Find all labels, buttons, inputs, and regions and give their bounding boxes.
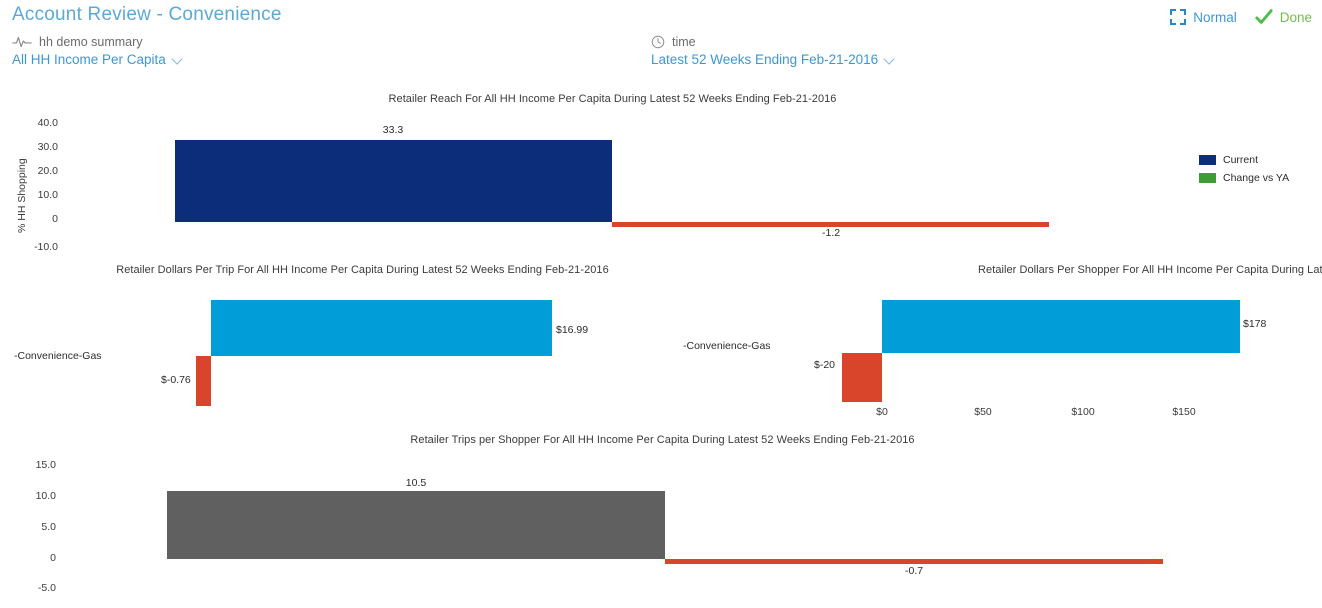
- chart-trips-per-shopper-ytick-3: 0: [8, 552, 56, 564]
- pulse-icon: [12, 35, 32, 49]
- done-button[interactable]: Done: [1255, 8, 1312, 26]
- chart-dollars-per-shopper-xtick-3: $150: [1154, 406, 1214, 418]
- expand-icon: [1170, 9, 1186, 25]
- filter-time-value-text: Latest 52 Weeks Ending Feb-21-2016: [651, 52, 878, 67]
- chevron-down-icon[interactable]: [885, 55, 894, 64]
- legend-swatch-change-vs-ya: [1199, 173, 1216, 183]
- check-icon: [1255, 8, 1273, 26]
- chart-retailer-reach-ytick-0: 40.0: [10, 117, 58, 129]
- header-actions: Normal Done: [1170, 8, 1312, 26]
- legend-item-change-vs-ya[interactable]: Change vs YA: [1199, 170, 1289, 185]
- chevron-down-icon[interactable]: [173, 55, 182, 64]
- chart-trips-per-shopper-ytick-4: -5.0: [8, 582, 56, 594]
- chart-dollars-per-shopper-xtick-1: $50: [953, 406, 1013, 418]
- chart-retailer-reach-ytick-2: 20.0: [10, 165, 58, 177]
- chart-retailer-reach-ytick-5: -10.0: [10, 241, 58, 253]
- chart-dollars-per-shopper-xtick-2: $100: [1053, 406, 1113, 418]
- chart-retailer-reach-title: Retailer Reach For All HH Income Per Cap…: [0, 93, 1225, 105]
- filter-hh-demo-summary-label: hh demo summary: [39, 35, 143, 49]
- filter-time-label: time: [672, 35, 696, 49]
- legend-label-current: Current: [1223, 154, 1258, 166]
- chart-trips-per-shopper-ytick-2: 5.0: [8, 521, 56, 533]
- chart-dollars-per-shopper-title: Retailer Dollars Per Shopper For All HH …: [660, 264, 1322, 276]
- chart-retailer-reach: Retailer Reach For All HH Income Per Cap…: [0, 88, 1322, 258]
- chart-trips-per-shopper-title: Retailer Trips per Shopper For All HH In…: [0, 434, 1322, 446]
- chart-dollars-per-trip-bar-change[interactable]: [196, 356, 211, 406]
- chart-retailer-reach-ytick-4: 0: [10, 213, 58, 225]
- chart-dollars-per-shopper: Retailer Dollars Per Shopper For All HH …: [660, 260, 1322, 428]
- done-label: Done: [1280, 10, 1312, 25]
- filter-time-value[interactable]: Latest 52 Weeks Ending Feb-21-2016: [651, 52, 894, 67]
- chart-retailer-reach-ytick-3: 10.0: [10, 189, 58, 201]
- chart-retailer-reach-datalabel-change: -1.2: [772, 227, 890, 239]
- chart-dollars-per-trip-datalabel-change: $-0.76: [161, 374, 191, 386]
- chart-dollars-per-shopper-bar-current[interactable]: [882, 300, 1240, 353]
- chart-dollars-per-shopper-bar-change[interactable]: [842, 353, 882, 402]
- chart-trips-per-shopper-ytick-1: 10.0: [8, 490, 56, 502]
- normal-view-label: Normal: [1193, 10, 1237, 25]
- chart-dollars-per-trip: Retailer Dollars Per Trip For All HH Inc…: [0, 260, 660, 428]
- chart-legend: Current Change vs YA: [1199, 152, 1289, 188]
- chart-retailer-reach-datalabel-current: 33.3: [334, 124, 452, 136]
- legend-label-change-vs-ya: Change vs YA: [1223, 172, 1289, 184]
- chart-trips-per-shopper-datalabel-current: 10.5: [357, 477, 475, 489]
- chart-trips-per-shopper: Retailer Trips per Shopper For All HH In…: [0, 430, 1322, 608]
- filter-time[interactable]: time Latest 52 Weeks Ending Feb-21-2016: [651, 34, 894, 67]
- legend-item-current[interactable]: Current: [1199, 152, 1289, 167]
- chart-trips-per-shopper-bar-current[interactable]: [167, 491, 665, 559]
- normal-view-button[interactable]: Normal: [1170, 9, 1237, 25]
- chart-dollars-per-trip-category: -Convenience-Gas: [14, 350, 102, 362]
- chart-dollars-per-shopper-category: -Convenience-Gas: [683, 340, 771, 352]
- clock-icon: [651, 35, 665, 49]
- chart-dollars-per-trip-datalabel-current: $16.99: [556, 324, 588, 336]
- legend-swatch-current: [1199, 155, 1216, 165]
- chart-dollars-per-shopper-datalabel-current: $178: [1243, 318, 1266, 330]
- chart-retailer-reach-bar-current[interactable]: [175, 140, 612, 222]
- chart-dollars-per-shopper-xtick-0: $0: [852, 406, 912, 418]
- filter-hh-demo-summary[interactable]: hh demo summary All HH Income Per Capita: [12, 34, 182, 67]
- page-title: Account Review - Convenience: [12, 4, 282, 26]
- chart-retailer-reach-ytick-1: 30.0: [10, 141, 58, 153]
- dashboard-root: Account Review - Convenience Normal Done…: [0, 0, 1322, 608]
- chart-dollars-per-trip-bar-current[interactable]: [211, 300, 552, 356]
- chart-trips-per-shopper-bar-change[interactable]: [665, 559, 1163, 564]
- chart-dollars-per-trip-title: Retailer Dollars Per Trip For All HH Inc…: [0, 264, 725, 276]
- filter-hh-demo-summary-value[interactable]: All HH Income Per Capita: [12, 52, 182, 67]
- chart-trips-per-shopper-datalabel-change: -0.7: [855, 565, 973, 577]
- chart-dollars-per-shopper-datalabel-change: $-20: [814, 359, 835, 371]
- chart-trips-per-shopper-ytick-0: 15.0: [8, 459, 56, 471]
- filter-hh-demo-summary-value-text: All HH Income Per Capita: [12, 52, 166, 67]
